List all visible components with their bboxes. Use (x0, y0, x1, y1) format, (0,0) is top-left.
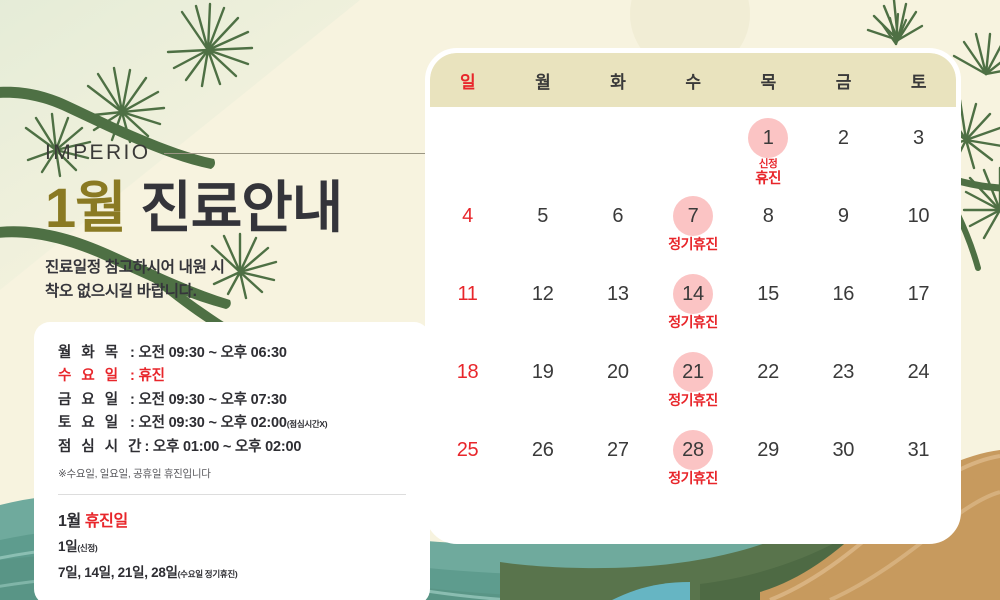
calendar-week-row: 1 신정 휴진 2 3 (430, 107, 956, 185)
hours-label: 수 요 일 (58, 365, 130, 388)
day-number: 25 (448, 430, 488, 470)
day-number: 16 (823, 274, 863, 314)
calendar-day-cell[interactable]: 12 (505, 263, 580, 341)
day-number: 21 (673, 352, 713, 392)
hours-row: 수 요 일: 휴진 (58, 365, 406, 388)
calendar-day-cell[interactable]: 3 (881, 107, 956, 185)
day-number: 11 (448, 274, 488, 314)
hours-value: : 오전 09:30 ~ 오후 07:30 (130, 392, 287, 408)
hours-row: 점 심 시 간: 오후 01:00 ~ 오후 02:00 (58, 436, 406, 459)
day-number: 30 (823, 430, 863, 470)
holiday-line-2-main: 7일, 14일, 21일, 28일 (58, 565, 178, 580)
card-divider (58, 494, 406, 495)
page-title: 1월 진료안내 (45, 178, 435, 238)
day-number: 1 (748, 118, 788, 158)
day-number: 29 (748, 430, 788, 470)
calendar-day-cell (505, 107, 580, 185)
calendar-day-cell[interactable]: 11 (430, 263, 505, 341)
weekday-header-sat: 토 (881, 53, 956, 107)
hours-label: 토 요 일 (58, 412, 130, 435)
hours-value: : 오전 09:30 ~ 오후 02:00 (130, 415, 287, 431)
weekday-header-mon: 월 (505, 53, 580, 107)
calendar-body: 1 신정 휴진 2 3 4 5 (430, 107, 956, 497)
day-number: 18 (448, 352, 488, 392)
calendar-day-cell[interactable]: 6 (580, 185, 655, 263)
day-number: 22 (748, 352, 788, 392)
calendar-week-row: 25 26 27 28 정기휴진 29 30 (430, 419, 956, 497)
hours-note: (점심시간X) (287, 419, 328, 429)
weekday-header-sun: 일 (430, 53, 505, 107)
calendar-day-cell[interactable]: 17 (881, 263, 956, 341)
info-card: 월 화 목: 오전 09:30 ~ 오후 06:30 수 요 일: 휴진 금 요… (34, 322, 430, 600)
day-number: 31 (898, 430, 938, 470)
hours-footnote: ※수요일, 일요일, 공휴일 휴진입니다 (58, 466, 406, 481)
calendar-card: 일 월 화 수 목 금 토 (425, 48, 961, 544)
day-number: 4 (448, 196, 488, 236)
calendar-day-cell[interactable]: 9 (806, 185, 881, 263)
calendar-day-cell[interactable]: 26 (505, 419, 580, 497)
day-number: 20 (598, 352, 638, 392)
day-number: 10 (898, 196, 938, 236)
hours-label: 금 요 일 (58, 389, 130, 412)
calendar-day-cell[interactable]: 19 (505, 341, 580, 419)
weekday-header-fri: 금 (806, 53, 881, 107)
day-note: 정기휴진 (668, 471, 718, 487)
holiday-line-2-paren: (수요일 정기휴진) (178, 569, 238, 579)
calendar-day-cell[interactable]: 22 (731, 341, 806, 419)
day-note: 신정 휴진 (755, 159, 781, 187)
calendar-day-cell[interactable]: 5 (505, 185, 580, 263)
calendar-day-cell[interactable]: 14 정기휴진 (655, 263, 730, 341)
weekday-header-wed: 수 (655, 53, 730, 107)
left-panel: IMPERIO 1월 진료안내 진료일정 참고하시어 내원 시 착오 없으시길 … (45, 140, 435, 305)
day-number: 24 (898, 352, 938, 392)
hours-row: 금 요 일: 오전 09:30 ~ 오후 07:30 (58, 389, 406, 412)
hours-row: 월 화 목: 오전 09:30 ~ 오후 06:30 (58, 342, 406, 365)
day-number: 26 (523, 430, 563, 470)
holiday-heading: 1월휴진일 (58, 507, 406, 531)
calendar-day-cell[interactable]: 27 (580, 419, 655, 497)
hours-value: : 휴진 (130, 368, 165, 384)
day-note-regular: 정기휴진 (668, 393, 718, 409)
calendar-day-cell[interactable]: 29 (731, 419, 806, 497)
holiday-heading-word: 휴진일 (85, 513, 128, 530)
day-number: 7 (673, 196, 713, 236)
day-number: 5 (523, 196, 563, 236)
calendar-day-cell[interactable]: 30 (806, 419, 881, 497)
calendar-day-cell (430, 107, 505, 185)
calendar-day-cell[interactable]: 16 (806, 263, 881, 341)
calendar-day-cell[interactable]: 28 정기휴진 (655, 419, 730, 497)
hours-label: 월 화 목 (58, 342, 130, 365)
day-number: 19 (523, 352, 563, 392)
holiday-line-1-main: 1일 (58, 539, 77, 554)
calendar-day-cell (580, 107, 655, 185)
calendar-day-cell[interactable]: 1 신정 휴진 (731, 107, 806, 185)
brand-rule (164, 153, 435, 154)
calendar-day-cell[interactable]: 24 (881, 341, 956, 419)
day-number: 3 (898, 118, 938, 158)
calendar-day-cell[interactable]: 13 (580, 263, 655, 341)
holiday-line: 1일(신정) (58, 537, 406, 557)
day-number: 8 (748, 196, 788, 236)
subtitle: 진료일정 참고하시어 내원 시 착오 없으시길 바랍니다. (45, 256, 435, 304)
day-number: 14 (673, 274, 713, 314)
day-number: 12 (523, 274, 563, 314)
day-number: 23 (823, 352, 863, 392)
calendar-day-cell[interactable]: 25 (430, 419, 505, 497)
hours-list: 월 화 목: 오전 09:30 ~ 오후 06:30 수 요 일: 휴진 금 요… (58, 342, 406, 459)
brand-name: IMPERIO (45, 141, 150, 165)
calendar-day-cell[interactable]: 15 (731, 263, 806, 341)
calendar-day-cell[interactable]: 31 (881, 419, 956, 497)
day-note-small: 신정 (755, 159, 781, 171)
calendar-week-row: 18 19 20 21 정기휴진 22 23 (430, 341, 956, 419)
holiday-line-1-paren: (신정) (77, 543, 97, 553)
title-rest: 진료안내 (140, 176, 342, 239)
subtitle-line-2: 착오 없으시길 바랍니다. (45, 280, 435, 304)
weekday-header-thu: 목 (731, 53, 806, 107)
calendar-day-cell[interactable]: 21 정기휴진 (655, 341, 730, 419)
calendar-day-cell[interactable]: 8 (731, 185, 806, 263)
holiday-line: 7일, 14일, 21일, 28일(수요일 정기휴진) (58, 563, 406, 583)
weekday-header-tue: 화 (580, 53, 655, 107)
day-note: 정기휴진 (668, 315, 718, 331)
day-number: 9 (823, 196, 863, 236)
brand-row: IMPERIO (45, 140, 435, 166)
day-note-regular: 정기휴진 (668, 471, 718, 487)
calendar-day-cell[interactable]: 2 (806, 107, 881, 185)
calendar-day-cell[interactable]: 7 정기휴진 (655, 185, 730, 263)
calendar-week-row: 11 12 13 14 정기휴진 15 16 (430, 263, 956, 341)
hours-value: : 오후 01:00 ~ 오후 02:00 (144, 439, 301, 455)
day-note: 정기휴진 (668, 237, 718, 253)
day-note-regular: 정기휴진 (668, 315, 718, 331)
day-number: 6 (598, 196, 638, 236)
hours-label: 점 심 시 간 (58, 436, 144, 459)
hours-value: : 오전 09:30 ~ 오후 06:30 (130, 345, 287, 361)
day-note: 정기휴진 (668, 393, 718, 409)
subtitle-line-1: 진료일정 참고하시어 내원 시 (45, 256, 435, 280)
poster-root: IMPERIO 1월 진료안내 진료일정 참고하시어 내원 시 착오 없으시길 … (0, 0, 1000, 600)
calendar-day-cell[interactable]: 18 (430, 341, 505, 419)
day-note-regular: 정기휴진 (668, 237, 718, 253)
calendar-day-cell[interactable]: 23 (806, 341, 881, 419)
calendar-weekday-header: 일 월 화 수 목 금 토 (430, 53, 956, 107)
holiday-heading-month: 1월 (58, 513, 81, 530)
day-number: 28 (673, 430, 713, 470)
calendar-day-cell[interactable]: 20 (580, 341, 655, 419)
calendar-day-cell[interactable]: 4 (430, 185, 505, 263)
day-number: 17 (898, 274, 938, 314)
hours-row: 토 요 일: 오전 09:30 ~ 오후 02:00(점심시간X) (58, 412, 406, 435)
calendar-day-cell (655, 107, 730, 185)
day-number: 27 (598, 430, 638, 470)
day-number: 13 (598, 274, 638, 314)
calendar-week-row: 4 5 6 7 정기휴진 8 9 (430, 185, 956, 263)
title-month: 1월 (45, 176, 126, 239)
day-number: 2 (823, 118, 863, 158)
day-number: 15 (748, 274, 788, 314)
calendar-day-cell[interactable]: 10 (881, 185, 956, 263)
